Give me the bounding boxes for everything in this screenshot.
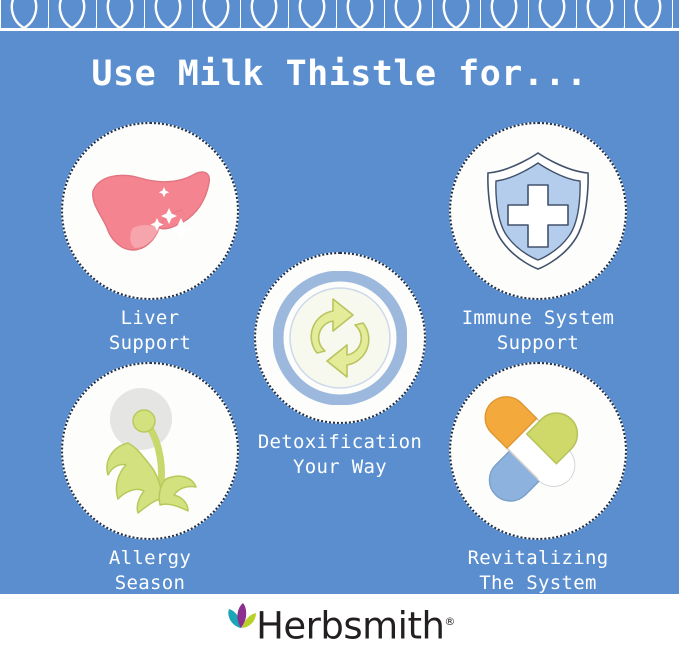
brand-name: Herbsmith [256, 604, 444, 647]
benefit-caption: Immune System Support [443, 306, 633, 356]
benefit-allergy-season[interactable]: Allergy Season [55, 362, 245, 596]
benefit-caption: Liver Support [55, 306, 245, 356]
capsules-icon [470, 385, 606, 517]
liver-icon [85, 156, 215, 266]
benefit-immune-system-support[interactable]: Immune System Support [443, 122, 633, 356]
infographic-poster: Use Milk Thistle for... Liver Sup [0, 0, 679, 658]
arch-lattice-border-icon [0, 0, 679, 32]
brand-logo[interactable]: Herbsmith® [0, 600, 679, 648]
benefit-caption: Detoxification Your Way [249, 430, 431, 480]
herbsmith-petal-icon [224, 600, 258, 640]
shield-cross-icon [482, 149, 594, 273]
benefit-detoxification[interactable]: Detoxification Your Way [249, 252, 431, 480]
recycle-arrows-icon [273, 271, 407, 405]
benefit-revitalizing-the-system[interactable]: Revitalizing The System [443, 362, 633, 596]
benefit-liver-support[interactable]: Liver Support [55, 122, 245, 356]
brand-name-wrap: Herbsmith® [256, 602, 455, 646]
benefit-caption: Revitalizing The System [443, 546, 633, 596]
benefit-caption: Allergy Season [55, 546, 245, 596]
registered-mark: ® [444, 615, 455, 628]
dandelion-icon [88, 383, 212, 519]
page-title: Use Milk Thistle for... [0, 52, 679, 96]
